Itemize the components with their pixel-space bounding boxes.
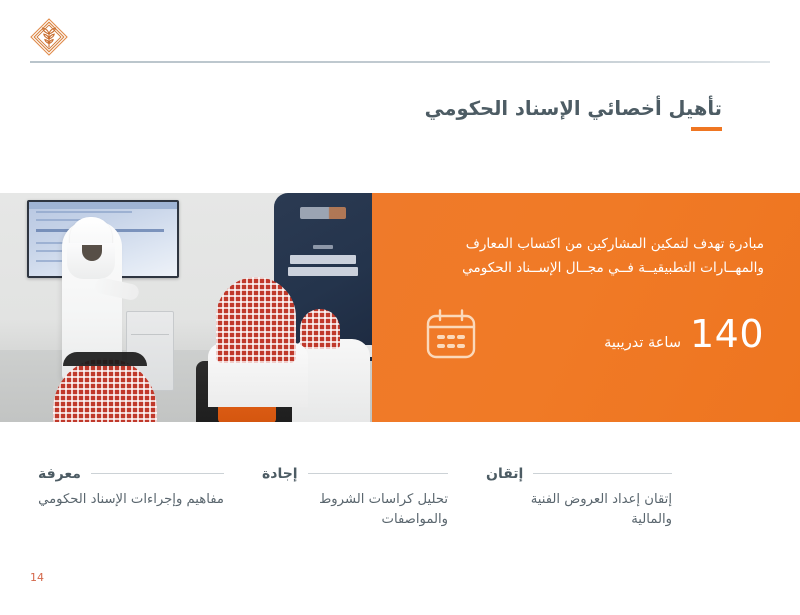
pillar-knowledge-header: معرفة [38, 466, 224, 482]
slide: تأهيل أخصائي الإسناد الحكومي [0, 0, 800, 615]
pillar-knowledge-description: مفاهيم وإجراءات الإسناد الحكومي [38, 490, 224, 510]
page-number: 14 [30, 571, 44, 584]
pillar-mastery-title: إتقان [486, 466, 523, 482]
photo-presenter-headdress [70, 217, 112, 269]
title-underline-accent [691, 127, 722, 131]
hero-stat-label: ساعة تدريبية [604, 335, 681, 351]
pillar-knowledge-title: معرفة [38, 466, 81, 482]
pillar-proficiency-description: تحليل كراسات الشروط والمواصفات [262, 490, 448, 531]
pillar-knowledge-rule [91, 473, 224, 474]
pillar-mastery-header: إتقان [486, 466, 672, 482]
brand-logo-icon [29, 17, 69, 57]
hero-stat: 140 ساعة تدريبية [604, 315, 764, 353]
pillar-mastery: إتقان إتقان إعداد العروض الفنية والمالية [486, 466, 672, 531]
page-title: تأهيل أخصائي الإسناد الحكومي [425, 96, 722, 121]
hero-orange-panel: مبادرة تهدف لتمكين المشاركين من اكتساب ا… [372, 193, 800, 422]
pillar-proficiency-rule [308, 473, 448, 474]
training-session-photo [0, 193, 372, 422]
pillar-knowledge: معرفة مفاهيم وإجراءات الإسناد الحكومي [38, 466, 224, 531]
pillar-mastery-rule [533, 473, 672, 474]
calendar-icon [424, 307, 478, 361]
hero-description: مبادرة تهدف لتمكين المشاركين من اكتساب ا… [406, 233, 764, 281]
photo-attendee-2-headdress [216, 277, 296, 363]
photo-attendee-3-headdress [300, 309, 340, 349]
pillars-row: معرفة مفاهيم وإجراءات الإسناد الحكومي إج… [0, 466, 800, 531]
page-title-block: تأهيل أخصائي الإسناد الحكومي [425, 96, 722, 131]
hero-stat-number: 140 [690, 315, 764, 353]
pillar-proficiency-header: إجادة [262, 466, 448, 482]
hero-band: مبادرة تهدف لتمكين المشاركين من اكتساب ا… [0, 193, 800, 422]
pillar-proficiency-title: إجادة [262, 466, 298, 482]
header-divider [30, 61, 770, 63]
pillar-mastery-description: إتقان إعداد العروض الفنية والمالية [486, 490, 672, 531]
pillar-proficiency: إجادة تحليل كراسات الشروط والمواصفات [262, 466, 448, 531]
